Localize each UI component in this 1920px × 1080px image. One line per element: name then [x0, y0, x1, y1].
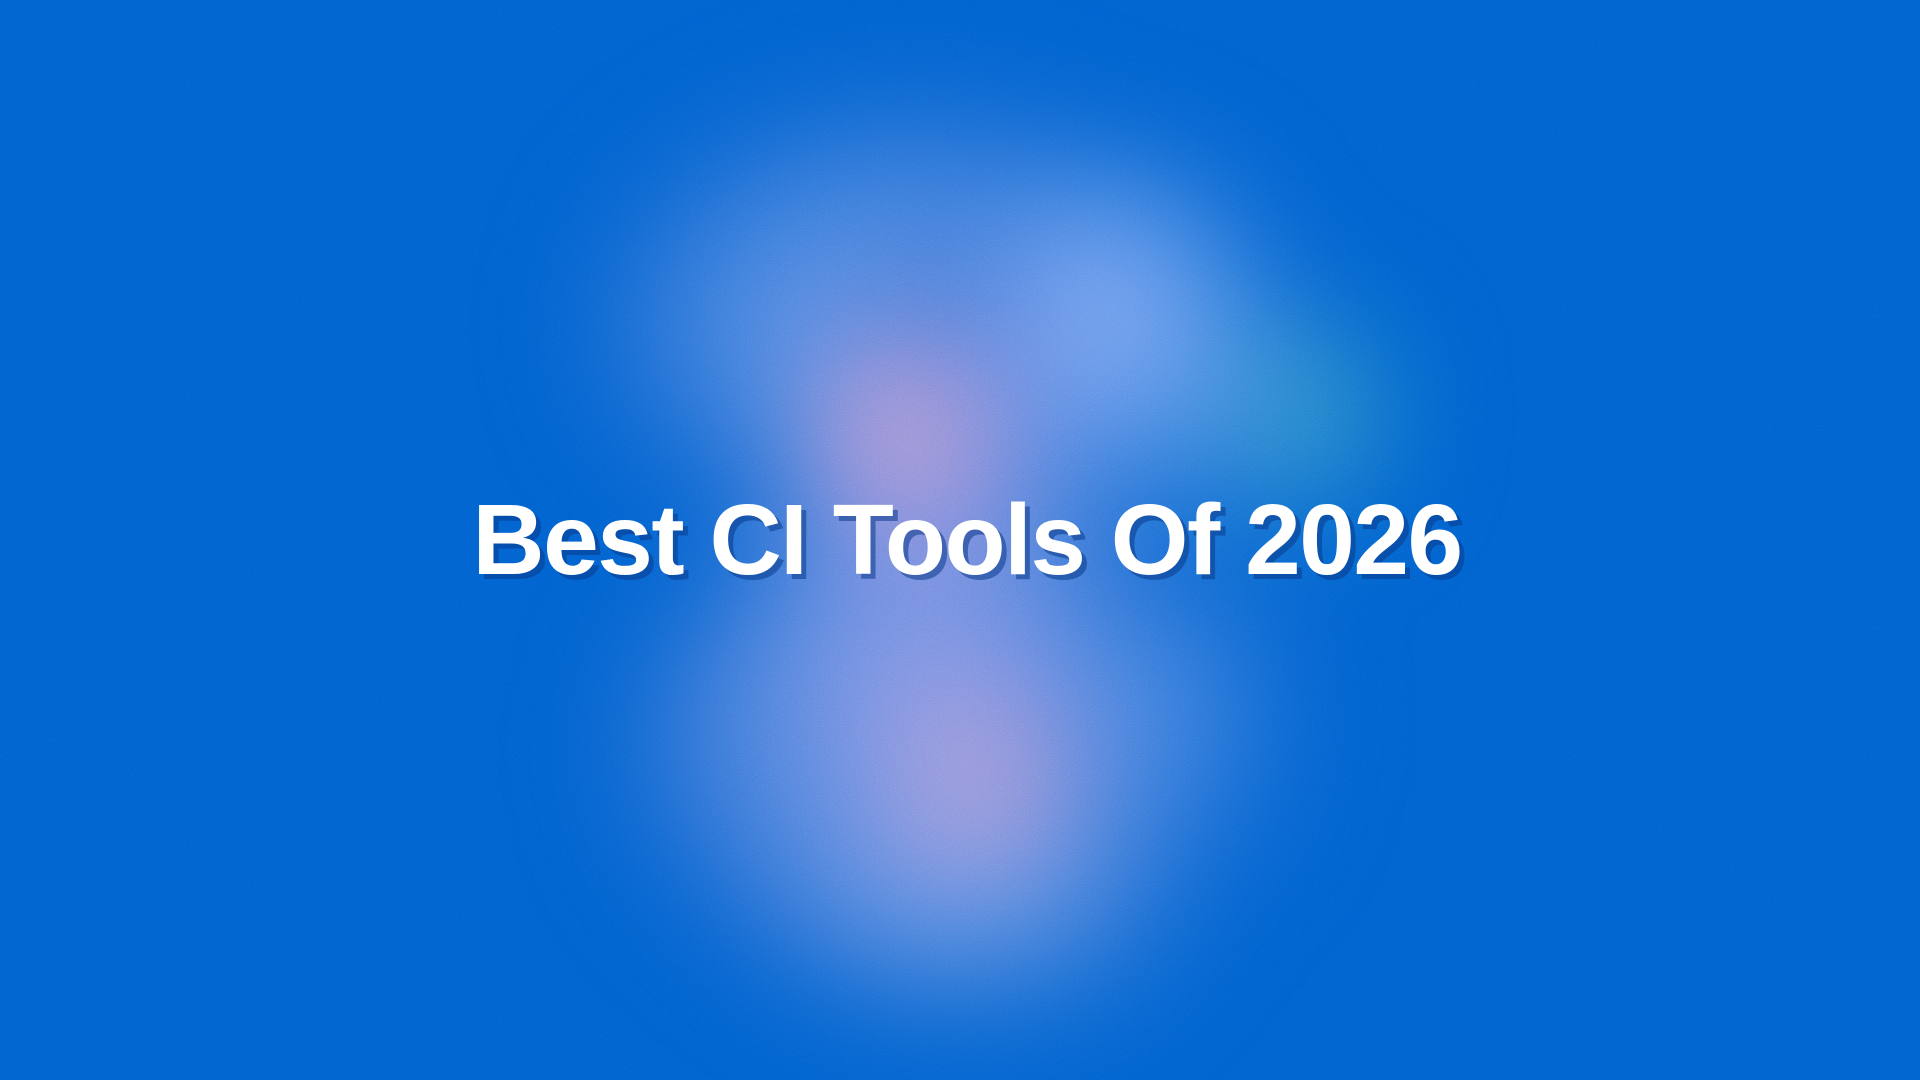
headline-container: Best CI Tools Of 2026 — [0, 0, 1920, 1080]
page-title: Best CI Tools Of 2026 — [458, 490, 1461, 590]
hero-banner: Best CI Tools Of 2026 — [0, 0, 1920, 1080]
